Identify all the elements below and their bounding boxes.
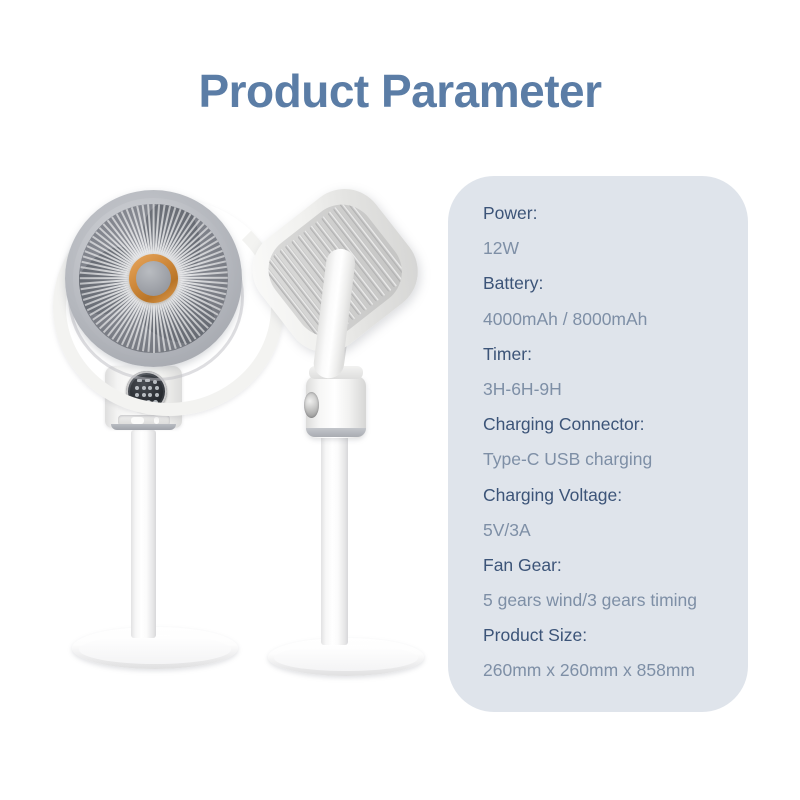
spec-label: Battery: bbox=[483, 266, 763, 301]
spec-value: 12W bbox=[483, 231, 763, 266]
spec-list: Power:12WBattery:4000mAh / 8000mAhTimer:… bbox=[483, 196, 763, 689]
product-parameter-image: Product Parameter bbox=[0, 0, 800, 800]
fan-pole bbox=[131, 430, 156, 638]
spec-label: Fan Gear: bbox=[483, 548, 763, 583]
fan-head bbox=[65, 190, 242, 367]
spec-value: Type-C USB charging bbox=[483, 442, 763, 477]
spec-value: 5V/3A bbox=[483, 513, 763, 548]
spec-label: Product Size: bbox=[483, 618, 763, 653]
page-title: Product Parameter bbox=[0, 64, 800, 118]
spec-value: 260mm x 260mm x 858mm bbox=[483, 653, 763, 688]
spec-label: Charging Connector: bbox=[483, 407, 763, 442]
product-image-tilted-fan bbox=[250, 190, 440, 690]
spec-value: 4000mAh / 8000mAh bbox=[483, 302, 763, 337]
spec-label: Timer: bbox=[483, 337, 763, 372]
spec-label: Power: bbox=[483, 196, 763, 231]
fan-base-rim bbox=[79, 635, 232, 664]
fan-pole bbox=[321, 433, 348, 645]
control-housing-foot bbox=[111, 424, 176, 430]
spec-value: 3H-6H-9H bbox=[483, 372, 763, 407]
spec-label: Charging Voltage: bbox=[483, 478, 763, 513]
fan-base-rim bbox=[274, 645, 418, 672]
spec-value: 5 gears wind/3 gears timing bbox=[483, 583, 763, 618]
joint-base-ring bbox=[306, 428, 366, 437]
